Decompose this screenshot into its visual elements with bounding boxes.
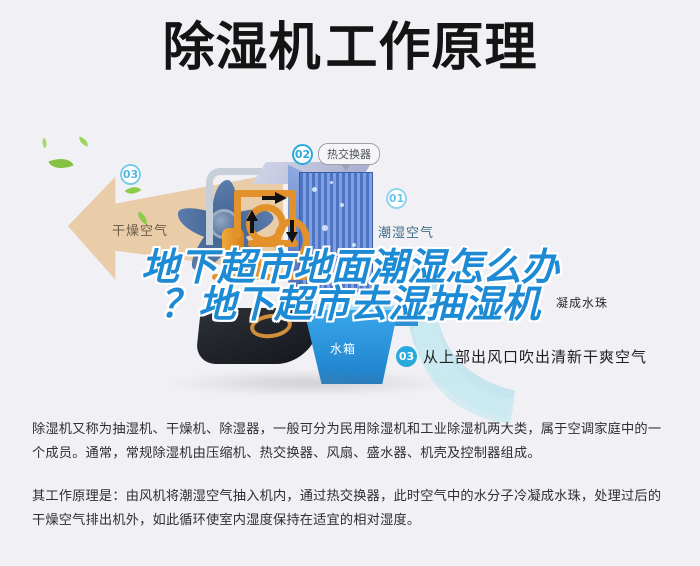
flow-arrow-down-icon <box>286 232 298 243</box>
title-part-1: 除湿机 <box>162 18 321 78</box>
infographic-page: 除湿机工作原理 干燥空气 <box>0 0 700 566</box>
outlet-caption-text: 从上部出风口吹出清新干爽空气 <box>423 346 647 367</box>
condensation-label: 凝成水珠 <box>556 294 608 311</box>
title-part-2: 工作原理 <box>326 18 538 78</box>
refrigerant-pipe <box>234 190 241 238</box>
step-badge-01-humid-air: 01 <box>386 188 407 209</box>
heat-exchanger-fins <box>299 172 373 292</box>
leaf-icon <box>125 183 142 198</box>
refrigerant-pipe-lower <box>255 256 261 278</box>
heat-exchanger-callout: 热交换器 <box>318 143 380 165</box>
page-title: 除湿机工作原理 <box>0 22 700 74</box>
body-copy: 除湿机又称为抽湿机、干燥机、除湿器，一般可分为民用除湿机和工业除湿机两大类，属于… <box>32 418 672 540</box>
flow-arrow-up-icon <box>246 210 258 221</box>
humid-air-label: 潮湿空气 <box>378 222 434 241</box>
water-tank-label: 水箱 <box>330 340 356 357</box>
dry-air-label: 干燥空气 <box>112 220 168 239</box>
leaf-icon <box>48 153 73 173</box>
flow-arrow-right-icon <box>275 192 287 204</box>
leaf-icon <box>77 136 90 146</box>
body-paragraph-1: 除湿机又称为抽湿机、干燥机、除湿器，一般可分为民用除湿机和工业除湿机两大类，属于… <box>32 418 672 467</box>
step-badge-03-dry-air: 03 <box>120 164 141 185</box>
floor-reflection <box>168 370 448 396</box>
step-badge-02-heat-exchanger: 02 <box>292 144 313 165</box>
outlet-caption: 03 从上部出风口吹出清新干爽空气 <box>396 346 647 367</box>
body-paragraph-2: 其工作原理是：由风机将潮湿空气抽入机内，通过热交换器，此时空气中的水分子冷凝成水… <box>32 485 672 534</box>
dehumidifier-diagram: 干燥空气 <box>0 128 700 408</box>
step-badge-03-outlet: 03 <box>396 346 417 367</box>
leaf-icon <box>39 138 49 149</box>
